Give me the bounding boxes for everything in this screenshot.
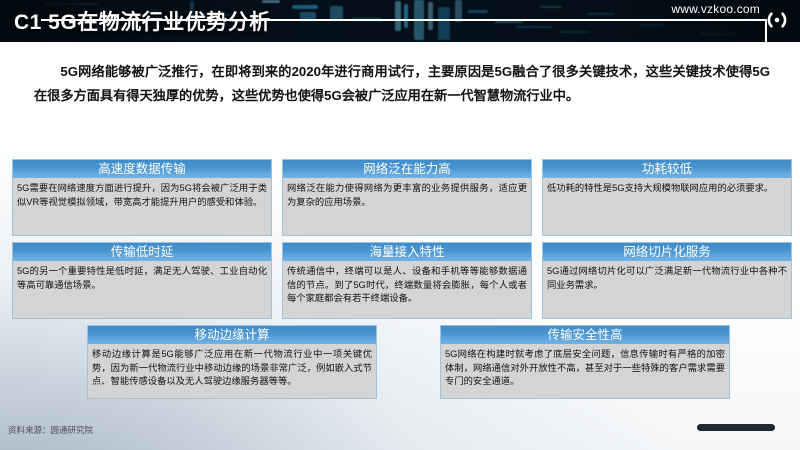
signal-wave-icon: [762, 6, 792, 36]
card-title: 网络泛在能力高: [282, 159, 532, 178]
card-body: 5G通过网络切片化可以广泛满足新一代物流行业中各种不同业务需求。: [542, 261, 792, 319]
page-title: C1 5G在物流行业优势分析: [14, 6, 271, 36]
advantage-card[interactable]: 高速度数据传输 5G需要在网络速度方面进行提升，因为5G将会被广泛用于类似VR等…: [12, 159, 272, 236]
card-title: 功耗较低: [542, 159, 792, 178]
advantage-card[interactable]: 传输安全性高 5G网络在构建时就考虑了底层安全问题，信息传输时有严格的加密体制，…: [440, 325, 730, 399]
card-body: 5G网络在构建时就考虑了底层安全问题，信息传输时有严格的加密体制，网络通信对外开…: [440, 344, 730, 399]
card-body: 传统通信中，终端可以是人、设备和手机等等能够数据通信的节点。到了5G时代，终端数…: [282, 261, 532, 319]
advantage-card[interactable]: 网络切片化服务 5G通过网络切片化可以广泛满足新一代物流行业中各种不同业务需求。: [542, 242, 792, 319]
card-title: 海量接入特性: [282, 242, 532, 261]
card-body: 低功耗的特性是5G支持大规模物联网应用的必须要求。: [542, 178, 792, 236]
card-body: 移动边缘计算是5G能够广泛应用在新一代物流行业中一项关键优势，因为新一代物流行业…: [87, 344, 377, 399]
advantage-card-grid: 高速度数据传输 5G需要在网络速度方面进行提升，因为5G将会被广泛用于类似VR等…: [0, 0, 800, 450]
card-body: 5G需要在网络速度方面进行提升，因为5G将会被广泛用于类似VR等视觉模拟领域，带…: [12, 178, 272, 236]
watermark-rule: [41, 19, 767, 21]
card-title: 高速度数据传输: [12, 159, 272, 178]
advantage-card[interactable]: 海量接入特性 传统通信中，终端可以是人、设备和手机等等能够数据通信的节点。到了5…: [282, 242, 532, 319]
card-title: 传输低时延: [12, 242, 272, 261]
source-note: 资料来源：圆通研究院: [8, 424, 93, 436]
footer-decoration-bar: [697, 424, 775, 431]
card-body: 5G的另一个重要特性是低时延，满足无人驾驶、工业自动化等高可靠通信场景。: [12, 261, 272, 319]
card-title: 传输安全性高: [440, 325, 730, 344]
advantage-card[interactable]: 功耗较低 低功耗的特性是5G支持大规模物联网应用的必须要求。: [542, 159, 792, 236]
advantage-card[interactable]: 传输低时延 5G的另一个重要特性是低时延，满足无人驾驶、工业自动化等高可靠通信场…: [12, 242, 272, 319]
card-title: 网络切片化服务: [542, 242, 792, 261]
card-body: 网络泛在能力使得网络为更丰富的业务提供服务，适应更为复杂的应用场景。: [282, 178, 532, 236]
card-title: 移动边缘计算: [87, 325, 377, 344]
advantage-card[interactable]: 网络泛在能力高 网络泛在能力使得网络为更丰富的业务提供服务，适应更为复杂的应用场…: [282, 159, 532, 236]
watermark-url: www.vzkoo.com: [671, 2, 760, 16]
advantage-card[interactable]: 移动边缘计算 移动边缘计算是5G能够广泛应用在新一代物流行业中一项关键优势，因为…: [87, 325, 377, 399]
slide-banner: C1 5G在物流行业优势分析 www.vzkoo.com: [0, 0, 800, 42]
